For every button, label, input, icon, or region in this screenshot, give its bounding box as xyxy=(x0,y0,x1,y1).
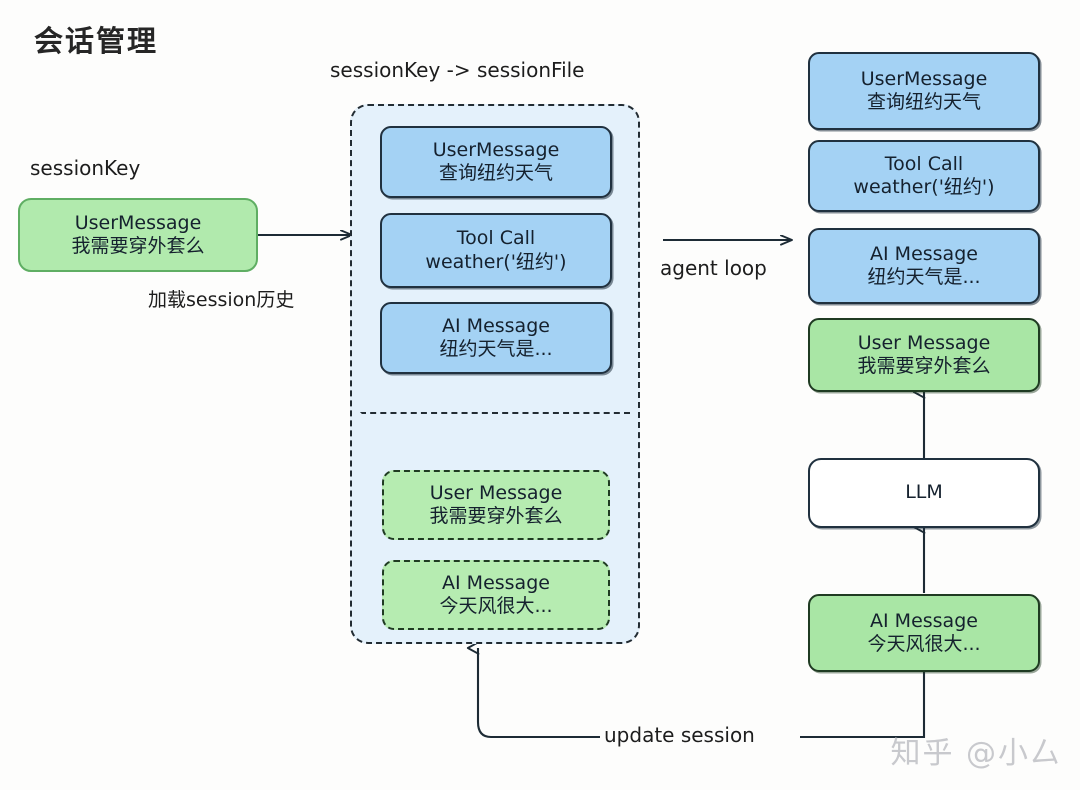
session-appended-item-1-line2: 今天风很大... xyxy=(439,595,552,618)
session-history-item-0: UserMessage 查询纽约天气 xyxy=(380,126,612,198)
page-title: 会话管理 xyxy=(34,18,158,60)
pipeline-item-5-line2: 今天风很大... xyxy=(867,633,980,656)
pipeline-item-3-line2: 我需要穿外套么 xyxy=(857,355,990,378)
pipeline-item-llm-line1: LLM xyxy=(905,481,943,504)
node-input-line1: UserMessage xyxy=(75,212,202,235)
pipeline-item-llm: LLM xyxy=(808,458,1040,528)
pipeline-item-3-line1: User Message xyxy=(858,332,991,355)
session-appended-item-1: AI Message 今天风很大... xyxy=(382,560,610,630)
pipeline-item-0-line2: 查询纽约天气 xyxy=(867,91,981,114)
session-appended-item-0-line2: 我需要穿外套么 xyxy=(429,505,562,528)
pipeline-item-1-line2: weather('纽约') xyxy=(853,176,994,199)
pipeline-item-5: AI Message 今天风很大... xyxy=(808,594,1040,672)
pipeline-item-0-line1: UserMessage xyxy=(861,68,988,91)
label-load-history: 加载session历史 xyxy=(148,285,294,312)
pipeline-item-5-line1: AI Message xyxy=(870,610,978,633)
pipeline-item-1-line1: Tool Call xyxy=(885,153,963,176)
pipeline-item-2-line1: AI Message xyxy=(870,243,978,266)
diagram-canvas: 会话管理 sessionKey UserMessage 我需要穿外套么 加载se… xyxy=(0,0,1080,790)
session-history-item-0-line2: 查询纽约天气 xyxy=(439,162,553,185)
watermark: 知乎 @小厶 xyxy=(890,728,1062,772)
session-history-item-1: Tool Call weather('纽约') xyxy=(380,213,612,288)
pipeline-item-0: UserMessage 查询纽约天气 xyxy=(808,52,1040,130)
label-update-session: update session xyxy=(604,723,755,747)
session-history-item-2: AI Message 纽约天气是... xyxy=(380,302,612,374)
pipeline-item-3: User Message 我需要穿外套么 xyxy=(808,318,1040,392)
session-history-item-2-line1: AI Message xyxy=(442,315,550,338)
label-session-key: sessionKey xyxy=(30,156,140,180)
pipeline-item-2: AI Message 纽约天气是... xyxy=(808,228,1040,304)
edge-update-session-left xyxy=(478,648,600,737)
label-session-map: sessionKey -> sessionFile xyxy=(330,58,584,82)
session-appended-item-1-line1: AI Message xyxy=(442,572,550,595)
session-history-item-1-line1: Tool Call xyxy=(457,227,535,250)
node-input-line2: 我需要穿外套么 xyxy=(71,235,204,258)
session-history-item-1-line2: weather('纽约') xyxy=(425,251,566,274)
node-input-user-message: UserMessage 我需要穿外套么 xyxy=(18,198,258,272)
label-agent-loop: agent loop xyxy=(660,256,767,280)
session-appended-item-0: User Message 我需要穿外套么 xyxy=(382,470,610,540)
session-history-item-0-line1: UserMessage xyxy=(433,139,560,162)
session-history-item-2-line2: 纽约天气是... xyxy=(439,338,552,361)
pipeline-item-1: Tool Call weather('纽约') xyxy=(808,140,1040,212)
pipeline-item-2-line2: 纽约天气是... xyxy=(867,266,980,289)
session-appended-item-0-line1: User Message xyxy=(430,482,563,505)
